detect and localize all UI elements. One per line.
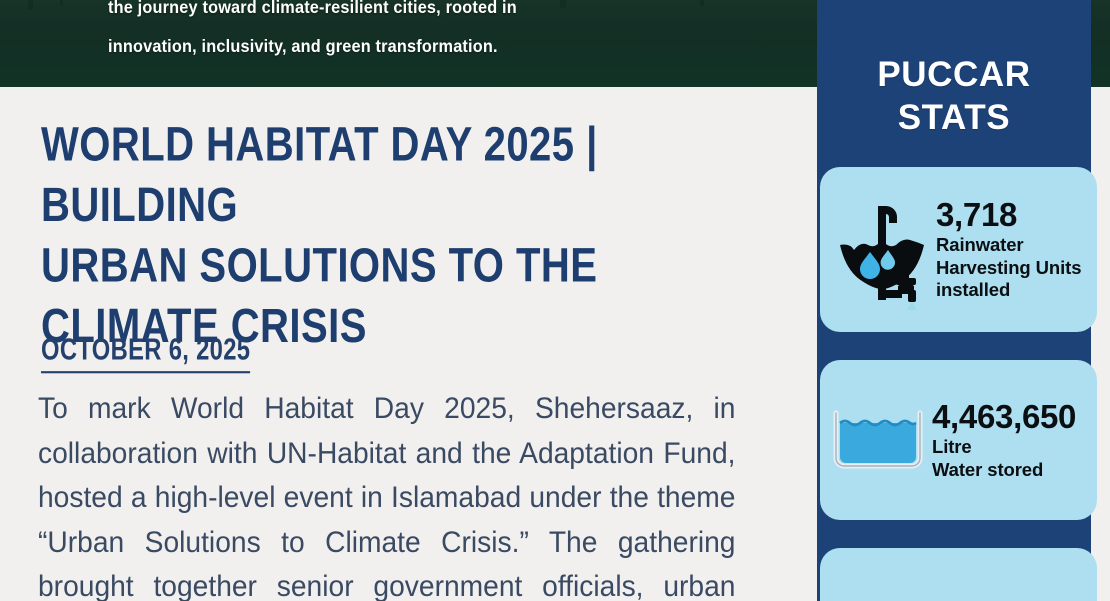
rail-title-block: PUCCAR STATS xyxy=(817,47,1091,144)
umbrella-rain-tap-icon xyxy=(820,190,936,310)
stat-card-water-stored[interactable]: 4,463,650 Litre Water stored xyxy=(820,360,1097,520)
stat-value: 3,718 xyxy=(936,197,1097,233)
rail-top-spacer xyxy=(817,0,1091,47)
infographic-page: the journey toward climate-resilient cit… xyxy=(0,0,1110,601)
article-body: To mark World Habitat Day 2025, Shehersa… xyxy=(38,387,735,601)
rail-divider-1 xyxy=(817,332,1091,360)
water-meter-icon xyxy=(820,596,936,601)
rail-divider-2 xyxy=(817,520,1091,548)
rail-title: PUCCAR STATS xyxy=(877,53,1030,139)
water-tank-icon xyxy=(820,407,932,473)
stat-value: 4,463,650 xyxy=(932,399,1097,435)
stat-card-water-meter[interactable]: 50,000 xyxy=(820,548,1097,601)
hero-paragraph: the journey toward climate-resilient cit… xyxy=(108,0,629,66)
stat-label: Rainwater Harvesting Units installed xyxy=(936,234,1097,302)
article-date: OCTOBER 6, 2025 xyxy=(41,333,250,373)
article-column: WORLD HABITAT DAY 2025 | BUILDING URBAN … xyxy=(0,87,818,601)
stat-card-rainwater[interactable]: 3,718 Rainwater Harvesting Units install… xyxy=(820,167,1097,332)
stat-label: Litre Water stored xyxy=(932,436,1097,481)
page-title: WORLD HABITAT DAY 2025 | BUILDING URBAN … xyxy=(41,114,704,356)
